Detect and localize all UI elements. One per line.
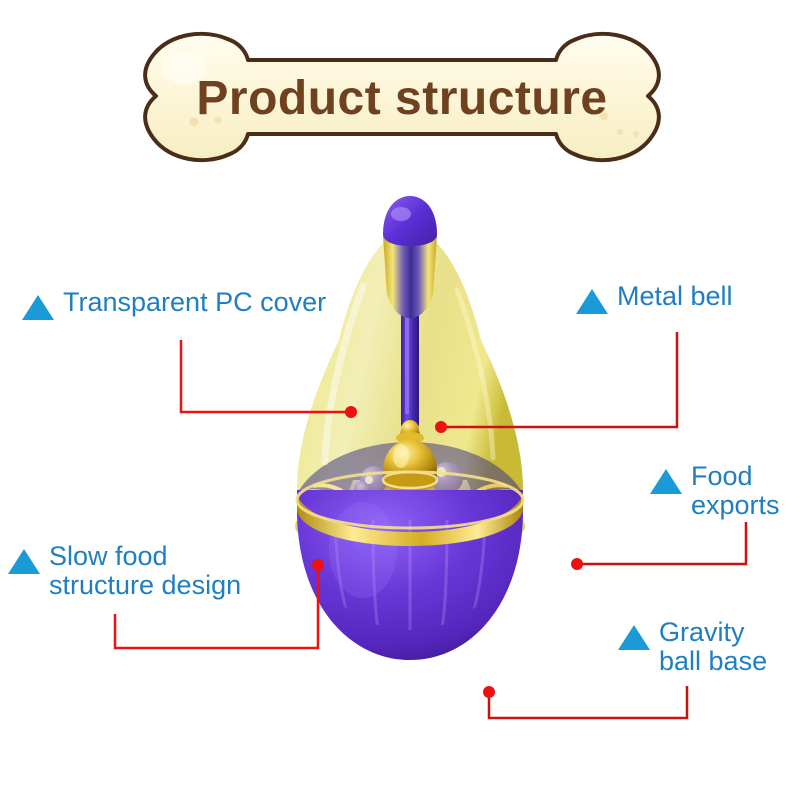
callout-food-exports[interactable]: Food exports xyxy=(650,462,780,520)
blue-triangle-icon xyxy=(576,289,608,314)
blue-triangle-icon xyxy=(650,469,682,494)
callout-label: Gravity ball base xyxy=(659,618,767,676)
callout-label: Slow food structure design xyxy=(49,542,241,600)
product-illustration xyxy=(235,190,585,710)
callout-transparent-pc-cover[interactable]: Transparent PC cover xyxy=(22,288,326,320)
callout-label: Food exports xyxy=(691,462,780,520)
callout-slow-food-structure-design[interactable]: Slow food structure design xyxy=(8,542,241,600)
gravity-ball-base xyxy=(297,490,523,660)
callout-label: Metal bell xyxy=(617,282,733,311)
blue-triangle-icon xyxy=(618,625,650,650)
blue-triangle-icon xyxy=(22,295,54,320)
purple-dome-cap xyxy=(383,196,437,246)
callout-gravity-ball-base[interactable]: Gravity ball base xyxy=(618,618,767,676)
callout-metal-bell[interactable]: Metal bell xyxy=(576,282,733,314)
title-banner: Product structure xyxy=(112,24,692,172)
blue-triangle-icon xyxy=(8,549,40,574)
page-title: Product structure xyxy=(112,24,692,172)
leader-food-exports xyxy=(582,522,746,564)
callout-label: Transparent PC cover xyxy=(63,288,326,317)
